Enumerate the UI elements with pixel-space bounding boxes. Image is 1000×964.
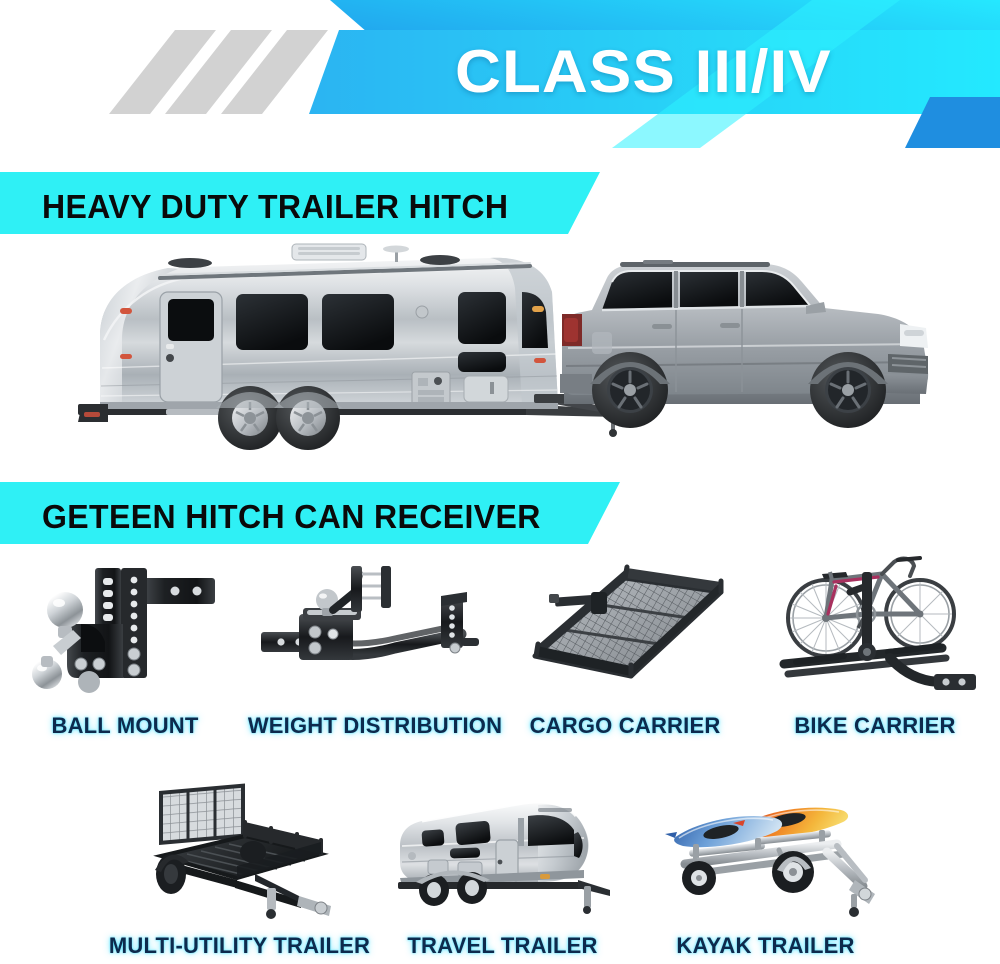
section-title-receiver: GETEEN HITCH CAN RECEIVER xyxy=(42,498,541,536)
multi-utility-trailer-art xyxy=(108,782,371,922)
product-label-weight-distribution: WEIGHT DISTRIBUTION xyxy=(248,713,502,739)
product-card-cargo-carrier[interactable]: CARGO CARRIER xyxy=(500,552,750,739)
suv-tow-vehicle xyxy=(534,260,928,428)
product-card-multi-utility-trailer[interactable]: MULTI-UTILITY TRAILER xyxy=(108,782,371,959)
travel-trailer-hero xyxy=(78,244,645,450)
product-label-bike-carrier: BIKE CARRIER xyxy=(794,713,955,739)
product-grid-row-2: MULTI-UTILITY TRAILER xyxy=(108,782,898,959)
product-label-ball-mount: BALL MOUNT xyxy=(51,713,198,739)
ball-mount-icon xyxy=(25,552,225,702)
product-grid-row-1: BALL MOUNT xyxy=(0,552,1000,739)
product-card-travel-trailer[interactable]: TRAVEL TRAILER xyxy=(371,782,634,959)
section-banner-receiver: GETEEN HITCH CAN RECEIVER xyxy=(0,482,660,544)
product-card-ball-mount[interactable]: BALL MOUNT xyxy=(0,552,250,739)
weight-distribution-icon xyxy=(255,552,495,702)
bike-carrier-icon xyxy=(770,552,980,702)
product-card-weight-distribution[interactable]: WEIGHT DISTRIBUTION xyxy=(250,552,500,739)
header-banner: CLASS III/IV xyxy=(0,0,1000,150)
product-card-kayak-trailer[interactable]: KAYAK TRAILER xyxy=(634,782,897,959)
product-label-cargo-carrier: CARGO CARRIER xyxy=(530,713,721,739)
travel-trailer-art xyxy=(371,782,634,922)
page-title: CLASS III/IV xyxy=(455,41,953,103)
section-banner-heavy-duty: HEAVY DUTY TRAILER HITCH xyxy=(0,172,640,234)
cargo-carrier-art xyxy=(500,552,750,702)
kayak-trailer-icon xyxy=(651,782,881,922)
ball-mount-art xyxy=(0,552,250,702)
weight-distribution-art xyxy=(250,552,500,702)
product-infographic-page: CLASS III/IV HEAVY DUTY TRAILER HITCH xyxy=(0,0,1000,964)
product-card-bike-carrier[interactable]: BIKE CARRIER xyxy=(750,552,1000,739)
travel-trailer-icon xyxy=(388,782,618,922)
hero-towing-illustration xyxy=(60,236,950,466)
cargo-carrier-icon xyxy=(515,552,735,702)
product-label-kayak-trailer: KAYAK TRAILER xyxy=(676,933,854,959)
multi-utility-trailer-icon xyxy=(125,782,355,922)
section-title-heavy-duty: HEAVY DUTY TRAILER HITCH xyxy=(42,188,508,226)
kayak-trailer-art xyxy=(634,782,897,922)
product-label-travel-trailer: TRAVEL TRAILER xyxy=(407,933,597,959)
product-label-multi-utility-trailer: MULTI-UTILITY TRAILER xyxy=(109,933,370,959)
bike-carrier-art xyxy=(750,552,1000,702)
trailer-and-suv-graphic xyxy=(60,236,950,466)
